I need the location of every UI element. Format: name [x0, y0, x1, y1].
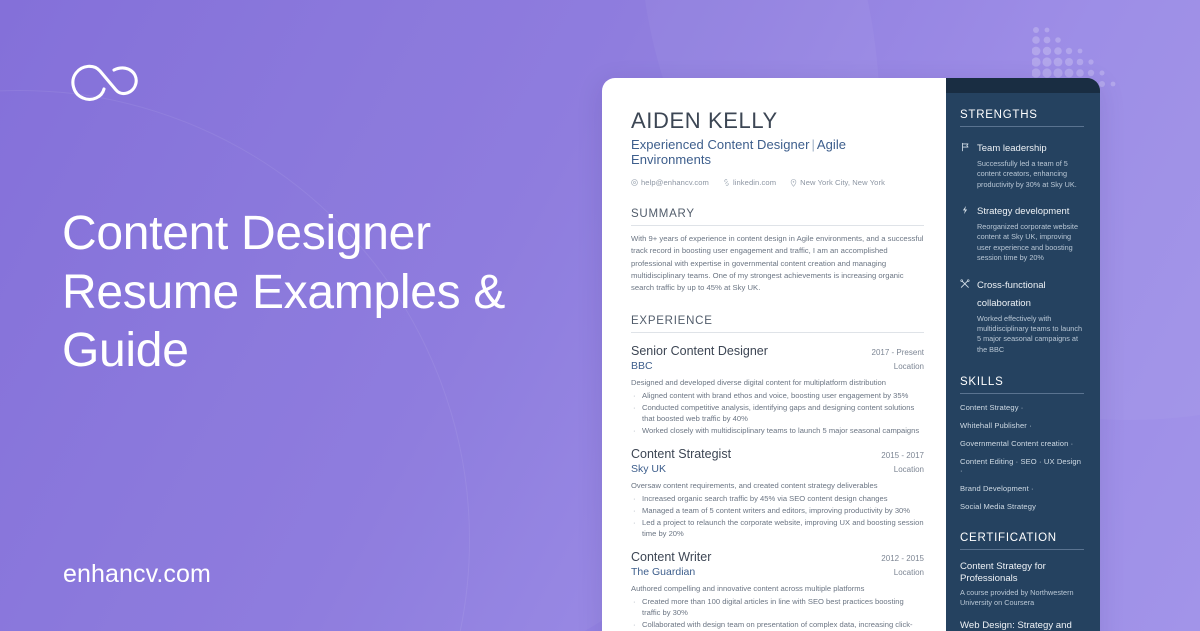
- bullet-dot: ·: [631, 390, 642, 401]
- summary-text: With 9+ years of experience in content d…: [631, 233, 924, 294]
- job-date: 2015 - 2017: [881, 451, 924, 460]
- contact-linkedin[interactable]: linkedin.com: [723, 178, 776, 187]
- job-date: 2012 - 2015: [881, 554, 924, 563]
- job-company: The Guardian: [631, 566, 695, 578]
- job-bullet-list: ·Increased organic search traffic by 45%…: [631, 493, 924, 539]
- strength-description: Successfully led a team of 5 content cre…: [977, 159, 1084, 190]
- job-title: Content Strategist: [631, 447, 731, 461]
- strengths-divider: [960, 126, 1084, 127]
- bullet-dot: ·: [631, 425, 642, 436]
- skills-divider: [960, 393, 1084, 394]
- resume-main-column: AIDEN KELLY Experienced Content Designer…: [602, 78, 946, 631]
- experience-section-title: EXPERIENCE: [631, 315, 924, 327]
- job-bullet-list: ·Aligned content with brand ethos and vo…: [631, 390, 924, 436]
- job-company: Sky UK: [631, 463, 666, 475]
- strength-description: Reorganized corporate website content at…: [977, 222, 1084, 263]
- job-description: Designed and developed diverse digital c…: [631, 377, 924, 388]
- link-icon: [723, 179, 730, 186]
- job-bullet-list: ·Created more than 100 digital articles …: [631, 596, 924, 631]
- job-bullet-text: Created more than 100 digital articles i…: [642, 596, 924, 618]
- bullet-dot: ·: [631, 505, 642, 516]
- crossed-arrows-icon: [960, 275, 971, 355]
- job-bullet: ·Managed a team of 5 content writers and…: [631, 505, 924, 516]
- strength-description: Worked effectively with multidisciplinar…: [977, 314, 1084, 355]
- job-bullet-text: Managed a team of 5 content writers and …: [642, 505, 910, 516]
- skill-item: Governmental Content creation ·: [960, 439, 1084, 448]
- job-company: BBC: [631, 360, 653, 372]
- site-url: enhancv.com: [63, 560, 211, 589]
- job-bullet: ·Conducted competitive analysis, identif…: [631, 402, 924, 424]
- enhancv-logo-icon: [70, 62, 142, 108]
- contact-email[interactable]: help@enhancv.com: [631, 178, 709, 187]
- strengths-section-title: STRENGTHS: [960, 109, 1084, 121]
- email-icon: [631, 179, 638, 186]
- role-left: Experienced Content Designer: [631, 137, 809, 152]
- contact-location-text: New York City, New York: [800, 178, 885, 187]
- location-pin-icon: [790, 179, 797, 187]
- job-description: Oversaw content requirements, and create…: [631, 480, 924, 491]
- resume-candidate-name: AIDEN KELLY: [631, 109, 924, 133]
- certification-divider: [960, 549, 1084, 550]
- experience-divider: [631, 332, 924, 333]
- job-bullet-text: Aligned content with brand ethos and voi…: [642, 390, 908, 401]
- flag-icon: [960, 138, 971, 190]
- certification-item: Content Strategy for Professionals A cou…: [960, 561, 1084, 609]
- job-location: Location: [894, 465, 924, 474]
- job-bullet: ·Increased organic search traffic by 45%…: [631, 493, 924, 504]
- contact-email-text: help@enhancv.com: [641, 178, 709, 187]
- bullet-dot: ·: [631, 596, 642, 618]
- strength-item: Team leadership Successfully led a team …: [960, 138, 1084, 190]
- job-bullet: ·Collaborated with design team on presen…: [631, 619, 924, 631]
- job-bullet-text: Led a project to relaunch the corporate …: [642, 517, 924, 539]
- job-location: Location: [894, 568, 924, 577]
- job-bullet-text: Increased organic search traffic by 45% …: [642, 493, 888, 504]
- job-bullet-text: Worked closely with multidisciplinary te…: [642, 425, 919, 436]
- job-title: Content Writer: [631, 550, 711, 564]
- job-bullet: ·Led a project to relaunch the corporate…: [631, 517, 924, 539]
- skill-item: Content Editing · SEO · UX Design ·: [960, 457, 1084, 475]
- page-headline: Content Designer Resume Examples & Guide: [62, 205, 582, 381]
- bullet-dot: ·: [631, 517, 642, 539]
- certification-name: Web Design: Strategy and Information Arc…: [960, 620, 1084, 631]
- strength-name: Strategy development: [977, 206, 1069, 217]
- resume-contact-row: help@enhancv.com linkedin.com New York C…: [631, 178, 924, 187]
- experience-item: Senior Content Designer 2017 - Present B…: [631, 344, 924, 436]
- resume-preview-card[interactable]: AIDEN KELLY Experienced Content Designer…: [602, 78, 1100, 631]
- job-bullet-text: Collaborated with design team on present…: [642, 619, 924, 631]
- skill-item: Social Media Strategy: [960, 502, 1084, 511]
- resume-sidebar-column: STRENGTHS Team leadership Successfully l…: [946, 78, 1100, 631]
- bullet-dot: ·: [631, 619, 642, 631]
- strength-body: Cross-functional collaboration Worked ef…: [977, 275, 1084, 355]
- strength-item: Strategy development Reorganized corpora…: [960, 201, 1084, 263]
- skill-item: Content Strategy ·: [960, 403, 1084, 412]
- certification-section-title: CERTIFICATION: [960, 532, 1084, 544]
- job-bullet: ·Aligned content with brand ethos and vo…: [631, 390, 924, 401]
- strength-name: Cross-functional collaboration: [977, 280, 1046, 309]
- certification-name: Content Strategy for Professionals: [960, 561, 1084, 585]
- skill-item: Whitehall Publisher ·: [960, 421, 1084, 430]
- experience-item: Content Strategist 2015 - 2017 Sky UK Lo…: [631, 447, 924, 539]
- job-date: 2017 - Present: [872, 348, 924, 357]
- experience-item: Content Writer 2012 - 2015 The Guardian …: [631, 550, 924, 631]
- strength-body: Strategy development Reorganized corpora…: [977, 201, 1084, 263]
- certification-description: A course provided by Northwestern Univer…: [960, 588, 1084, 608]
- skill-item: Brand Development ·: [960, 484, 1084, 493]
- skills-section-title: SKILLS: [960, 376, 1084, 388]
- role-separator: |: [809, 137, 816, 152]
- summary-section-title: SUMMARY: [631, 208, 924, 220]
- contact-linkedin-text: linkedin.com: [733, 178, 776, 187]
- job-title: Senior Content Designer: [631, 344, 768, 358]
- job-bullet: ·Worked closely with multidisciplinary t…: [631, 425, 924, 436]
- job-bullet-text: Conducted competitive analysis, identify…: [642, 402, 924, 424]
- resume-candidate-role: Experienced Content Designer|Agile Envir…: [631, 137, 924, 167]
- bullet-dot: ·: [631, 402, 642, 424]
- job-location: Location: [894, 362, 924, 371]
- lightning-bolt-icon: [960, 201, 971, 263]
- summary-divider: [631, 225, 924, 226]
- job-description: Authored compelling and innovative conte…: [631, 583, 924, 594]
- bullet-dot: ·: [631, 493, 642, 504]
- certification-item: Web Design: Strategy and Information Arc…: [960, 620, 1084, 631]
- job-bullet: ·Created more than 100 digital articles …: [631, 596, 924, 618]
- strength-body: Team leadership Successfully led a team …: [977, 138, 1084, 190]
- strength-item: Cross-functional collaboration Worked ef…: [960, 275, 1084, 355]
- contact-location: New York City, New York: [790, 178, 885, 187]
- strength-name: Team leadership: [977, 143, 1047, 154]
